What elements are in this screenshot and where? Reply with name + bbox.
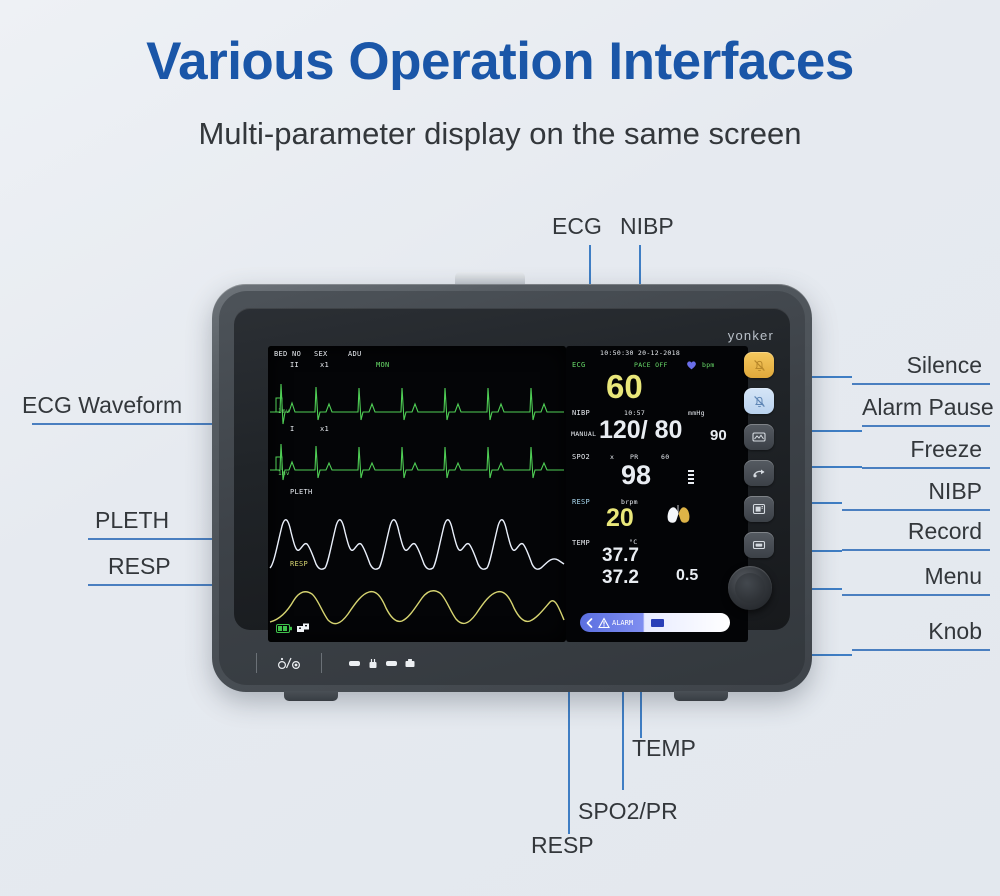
power-status-icon xyxy=(276,656,302,670)
callout-underline-resp-left xyxy=(88,584,221,586)
button-record[interactable] xyxy=(744,496,774,522)
nibp-map-value: 90 xyxy=(710,428,727,443)
led-indicator-2 xyxy=(386,661,397,666)
button-silence[interactable] xyxy=(744,352,774,378)
status-icons xyxy=(276,623,310,634)
resp-waveform-label: RESP xyxy=(290,560,308,568)
patient-type-label: ADU xyxy=(348,350,362,358)
callout-label-temp: TEMP xyxy=(632,735,696,762)
pr-value: 60 xyxy=(661,453,669,461)
power-indicator xyxy=(257,650,321,676)
callout-underline-pleth xyxy=(88,538,221,540)
callout-stub-freeze xyxy=(862,466,864,467)
back-arrow-icon xyxy=(584,617,596,629)
resp-rate-value: 20 xyxy=(606,506,634,531)
temp-value-2: 37.2 xyxy=(602,568,639,587)
front-panel-indicators xyxy=(256,650,516,676)
led-indicator-1 xyxy=(349,661,360,666)
button-freeze[interactable] xyxy=(744,424,774,450)
alarm-status-bar[interactable]: ALARM xyxy=(580,613,730,632)
ecg-lead-2: I xyxy=(290,425,295,433)
callout-label-knob: Knob xyxy=(852,618,982,645)
callout-stub-nibp xyxy=(842,502,844,509)
heart-rate-value: 60 xyxy=(606,370,643,403)
callout-label-pleth: PLETH xyxy=(95,507,169,534)
ecg-lead-1: II xyxy=(290,361,299,369)
monitor-foot-left xyxy=(284,691,338,701)
callout-stub-knob xyxy=(852,649,854,654)
alarm-pause-icon xyxy=(752,394,767,409)
ecg-gain-1: x1 xyxy=(320,361,329,369)
spo2-param-label: SPO2 xyxy=(572,453,590,461)
heart-beat-icon xyxy=(686,361,697,370)
callout-label-nibp: NIBP xyxy=(620,213,674,240)
datetime-display: 10:50:30 20-12-2018 xyxy=(600,349,680,357)
callout-underline-freeze xyxy=(862,467,990,469)
battery-icon xyxy=(276,624,292,633)
callout-label-ecg: ECG xyxy=(552,213,602,240)
ecg-cal-label-1: 1mv xyxy=(278,408,290,415)
waveform-display: BED NO SEX ADU II x1 MON 1mv I x1 1mv xyxy=(268,346,566,642)
parameter-display: 10:50:30 20-12-2018 ECG PACE OFF bpm 60 … xyxy=(566,346,748,642)
callout-label-silence: Silence xyxy=(852,352,982,379)
callout-underline-alarm-pause xyxy=(862,425,990,427)
temp-value-1: 37.7 xyxy=(602,546,639,565)
printer-module-icon xyxy=(297,623,310,634)
callout-underline-silence xyxy=(852,383,990,385)
navigation-knob[interactable] xyxy=(728,566,772,610)
bed-no-label: BED NO xyxy=(274,350,301,358)
ecg-unit: bpm xyxy=(702,361,715,369)
freeze-icon xyxy=(751,430,767,444)
battery-charge-icon xyxy=(405,658,416,668)
monitor-foot-right xyxy=(674,691,728,701)
menu-screen-icon xyxy=(751,538,767,552)
patient-monitor: yonker BED NO SEX ADU II x1 MON 1mv I x1 xyxy=(212,284,812,692)
button-nibp[interactable] xyxy=(744,460,774,486)
bell-slash-icon xyxy=(752,358,767,373)
alarm-bar-text: ALARM xyxy=(612,619,633,627)
callout-underline-knob xyxy=(852,649,990,651)
plug-icon xyxy=(368,657,378,669)
screen-bezel: yonker BED NO SEX ADU II x1 MON 1mv I x1 xyxy=(234,308,790,630)
ecg-param-label: ECG xyxy=(572,361,586,369)
button-menu[interactable] xyxy=(744,532,774,558)
brand-logo: yonker xyxy=(728,328,774,343)
nibp-sys-dia-value: 120/ 80 xyxy=(599,418,682,443)
callout-label-alarm-pause: Alarm Pause xyxy=(862,394,982,421)
pleth-label: PLETH xyxy=(290,488,313,496)
ecg-cal-label-2: 1mv xyxy=(278,470,290,477)
page-subtitle: Multi-parameter display on the same scre… xyxy=(0,116,1000,152)
ecg-mode-label: MON xyxy=(376,361,390,369)
infographic-canvas: Various Operation Interfaces Multi-param… xyxy=(0,0,1000,896)
led-indicator-group xyxy=(322,650,442,676)
spo2-bar-indicator xyxy=(688,470,694,484)
temp-param-label: TEMP xyxy=(572,539,590,547)
nibp-param-label: NIBP xyxy=(572,409,590,417)
callout-label-nibp: NIBP xyxy=(842,478,982,505)
nibp-unit: mmHg xyxy=(688,409,705,417)
callout-stub-record xyxy=(842,549,844,550)
callout-label-freeze: Freeze xyxy=(862,436,982,463)
alarm-triangle-icon xyxy=(598,617,610,629)
callout-underline-nibp xyxy=(842,509,990,511)
callout-stub-alarm-pause xyxy=(862,425,864,430)
sex-label: SEX xyxy=(314,350,328,358)
spo2-separator: x xyxy=(610,453,614,461)
callout-label-resp-left: RESP xyxy=(108,553,171,580)
temp-delta-value: 0.5 xyxy=(676,568,698,584)
callout-stub-silence xyxy=(852,376,854,383)
ecg-waveform-trace-2 xyxy=(268,436,566,494)
callout-label-spo2-pr: SPO2/PR xyxy=(578,798,678,825)
callout-label-record: Record xyxy=(842,518,982,545)
pleth-waveform-trace xyxy=(268,498,566,574)
resp-param-label: RESP xyxy=(572,498,590,506)
nibp-cuff-icon xyxy=(751,466,767,480)
spo2-value: 98 xyxy=(621,462,651,489)
callout-underline-record xyxy=(842,549,990,551)
callout-label-ecg-waveform: ECG Waveform xyxy=(22,392,182,419)
callout-underline-ecg-waveform xyxy=(32,423,220,425)
record-print-icon xyxy=(751,502,767,516)
callout-underline-menu xyxy=(842,594,990,596)
nibp-mode: MANUAL xyxy=(571,430,596,438)
page-title: Various Operation Interfaces xyxy=(0,34,1000,90)
callout-label-menu: Menu xyxy=(842,563,982,590)
callout-stub-menu xyxy=(842,588,844,594)
alarm-bar-toggle[interactable] xyxy=(651,619,664,627)
callout-label-resp-bottom: RESP xyxy=(531,832,594,859)
resp-waveform-trace xyxy=(268,570,566,640)
button-alarm-pause[interactable] xyxy=(744,388,774,414)
lungs-icon xyxy=(666,504,692,524)
ecg-waveform-trace-1 xyxy=(268,372,566,434)
ecg-gain-2: x1 xyxy=(320,425,329,433)
